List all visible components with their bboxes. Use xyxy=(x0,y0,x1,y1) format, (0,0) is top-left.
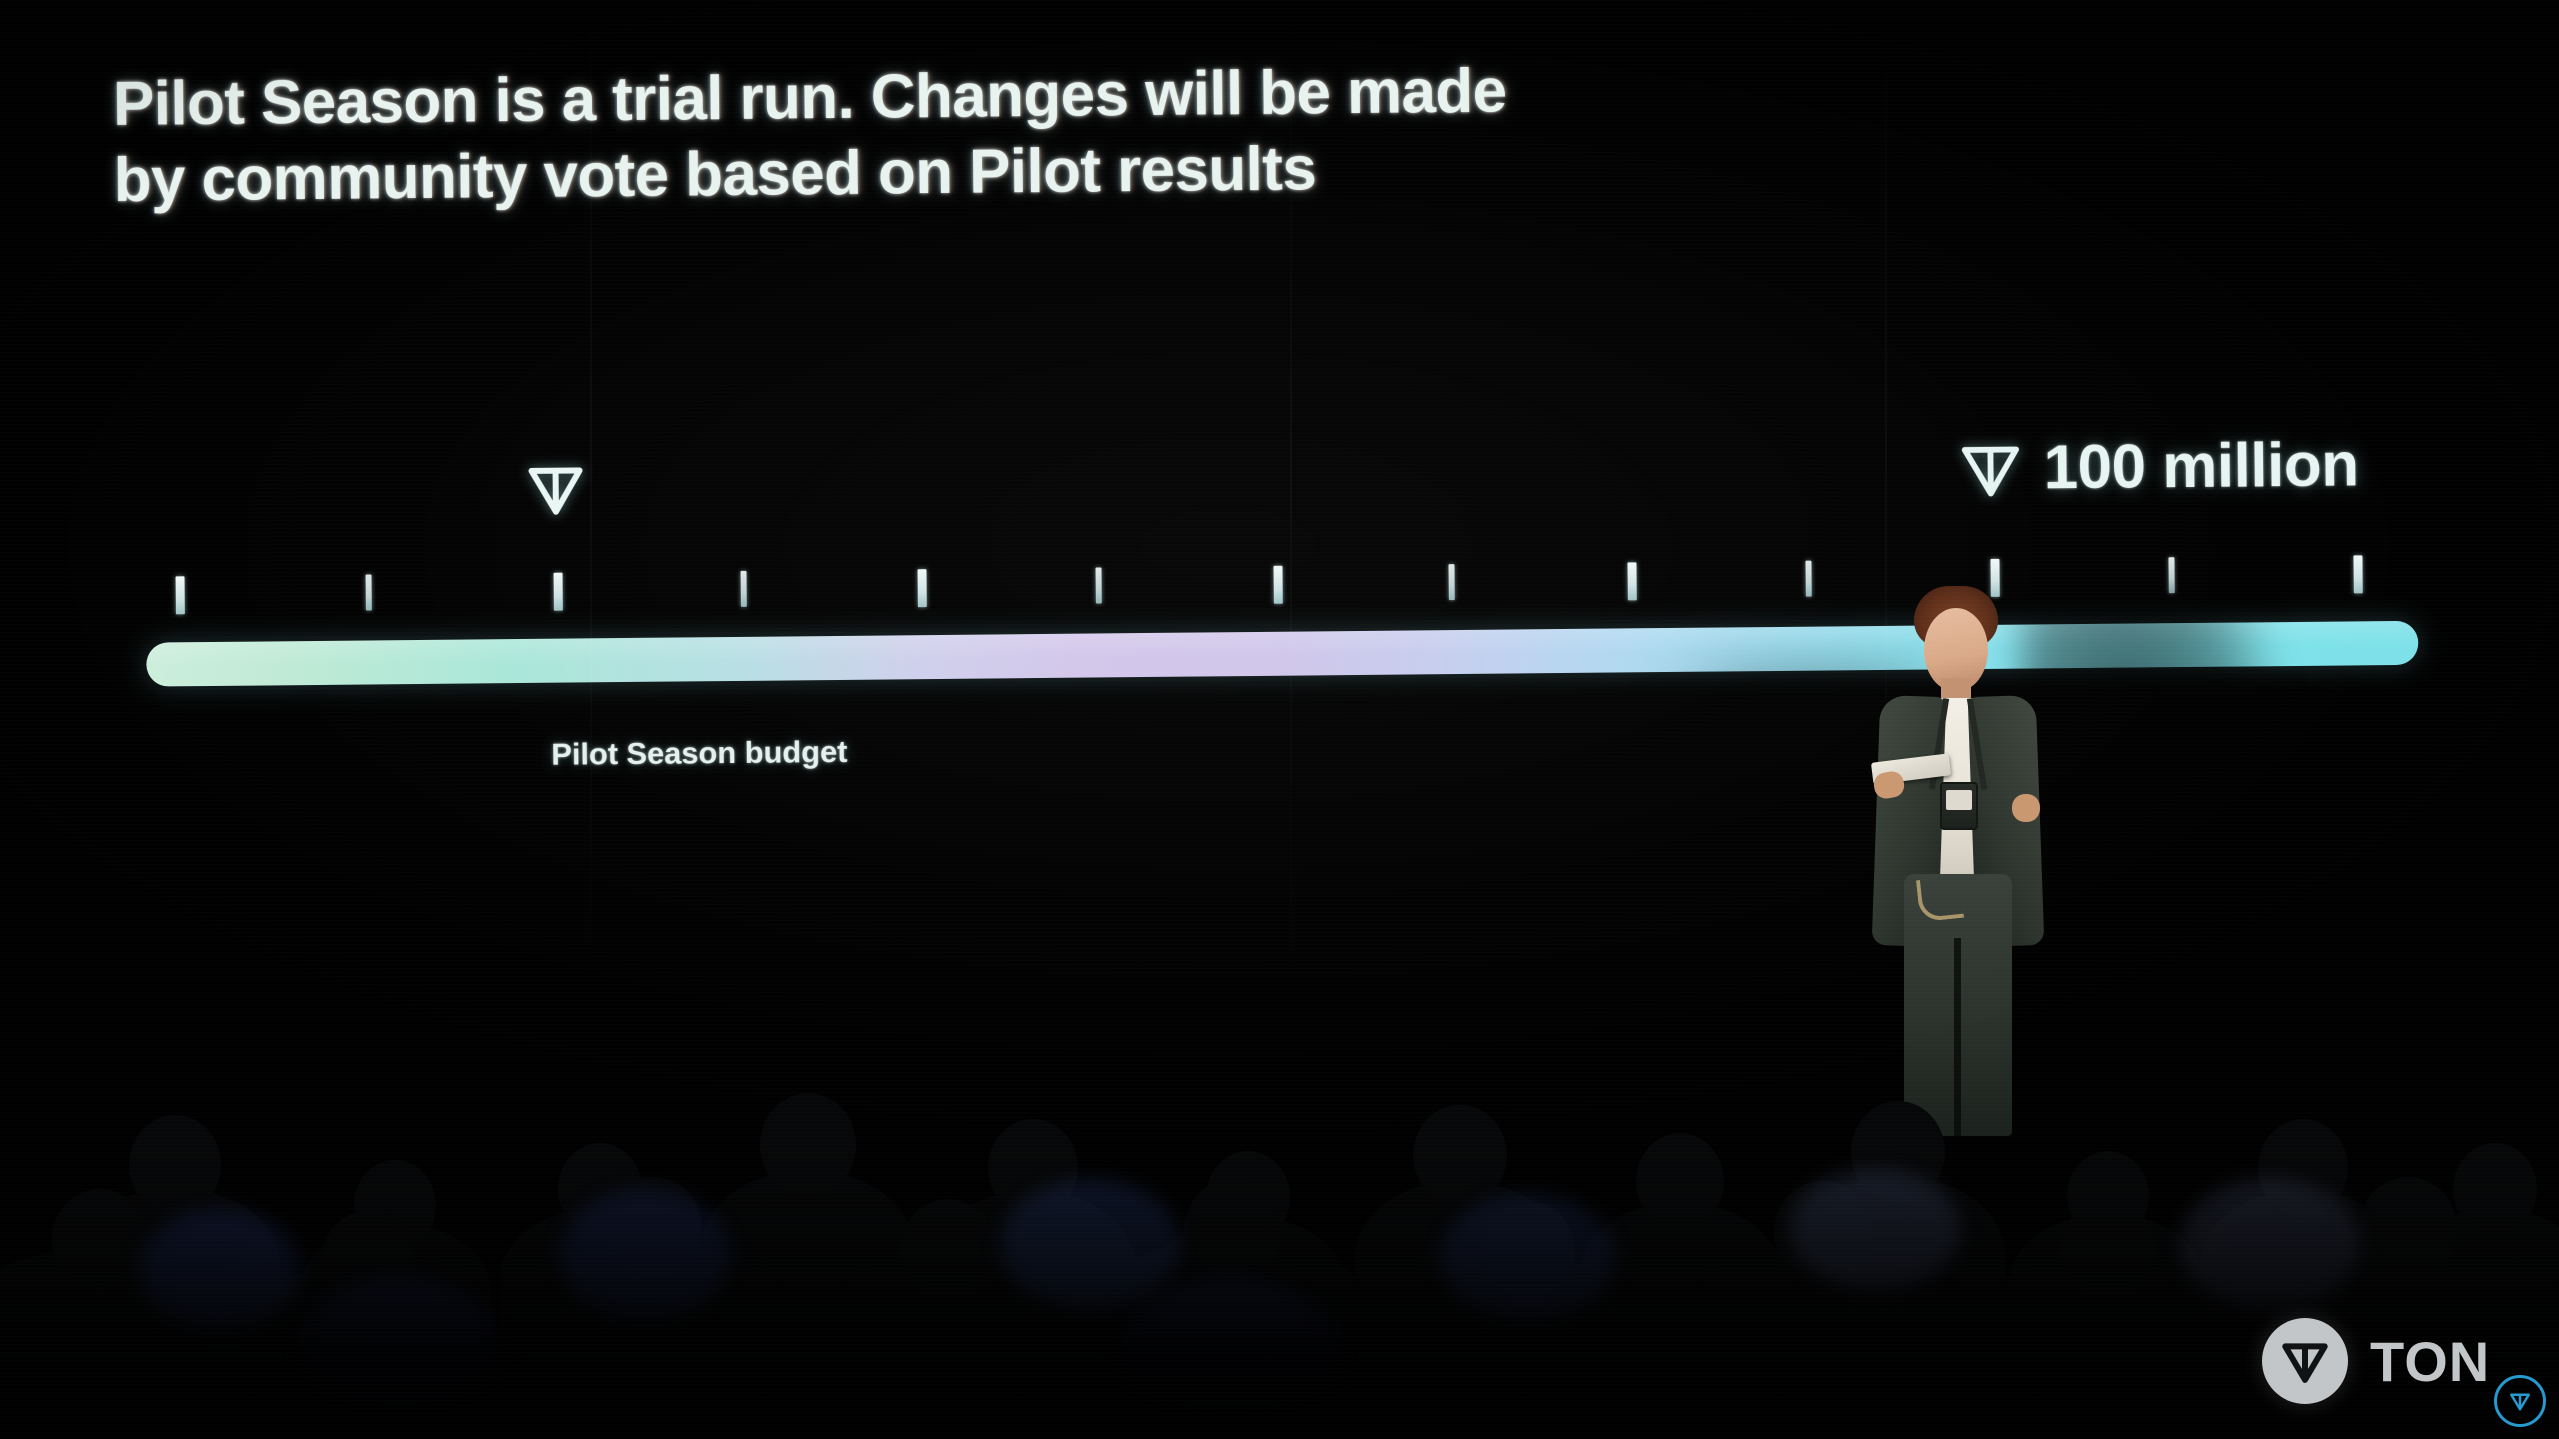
ton-logo: TON xyxy=(2262,1318,2490,1404)
tick-mark xyxy=(1095,567,1101,603)
slide-title: Pilot Season is a trial run. Changes wil… xyxy=(113,51,1814,219)
ton-circle-logo-icon xyxy=(2262,1318,2348,1404)
ton-watermark-icon xyxy=(2494,1375,2546,1427)
scale-ticks xyxy=(6,553,2559,622)
tick-mark xyxy=(1273,566,1282,604)
tick-mark xyxy=(918,569,927,607)
ton-logo-text: TON xyxy=(2370,1329,2490,1394)
tick-mark xyxy=(1627,562,1636,600)
tick-mark xyxy=(554,573,563,611)
tick-mark xyxy=(176,576,185,614)
tick-mark xyxy=(741,571,747,607)
ton-diamond-icon-max xyxy=(1959,438,2022,499)
max-value-label: 100 million xyxy=(1959,429,2359,504)
tick-mark xyxy=(2168,557,2174,593)
ton-diamond-icon-budget-marker xyxy=(526,460,585,517)
tick-mark xyxy=(2353,555,2362,593)
tick-mark xyxy=(366,574,372,610)
budget-scale-bar xyxy=(146,621,2418,687)
max-value-amount: 100 million xyxy=(2043,429,2359,503)
projected-slide: Pilot Season is a trial run. Changes wil… xyxy=(0,0,2559,1439)
slide-title-line-2: by community vote based on Pilot results xyxy=(113,126,1814,218)
presentation-frame: Pilot Season is a trial run. Changes wil… xyxy=(0,0,2559,1439)
budget-caption: Pilot Season budget xyxy=(551,734,847,773)
tick-mark xyxy=(1448,564,1454,600)
tick-mark xyxy=(1990,559,1999,597)
tick-mark xyxy=(1805,561,1811,597)
